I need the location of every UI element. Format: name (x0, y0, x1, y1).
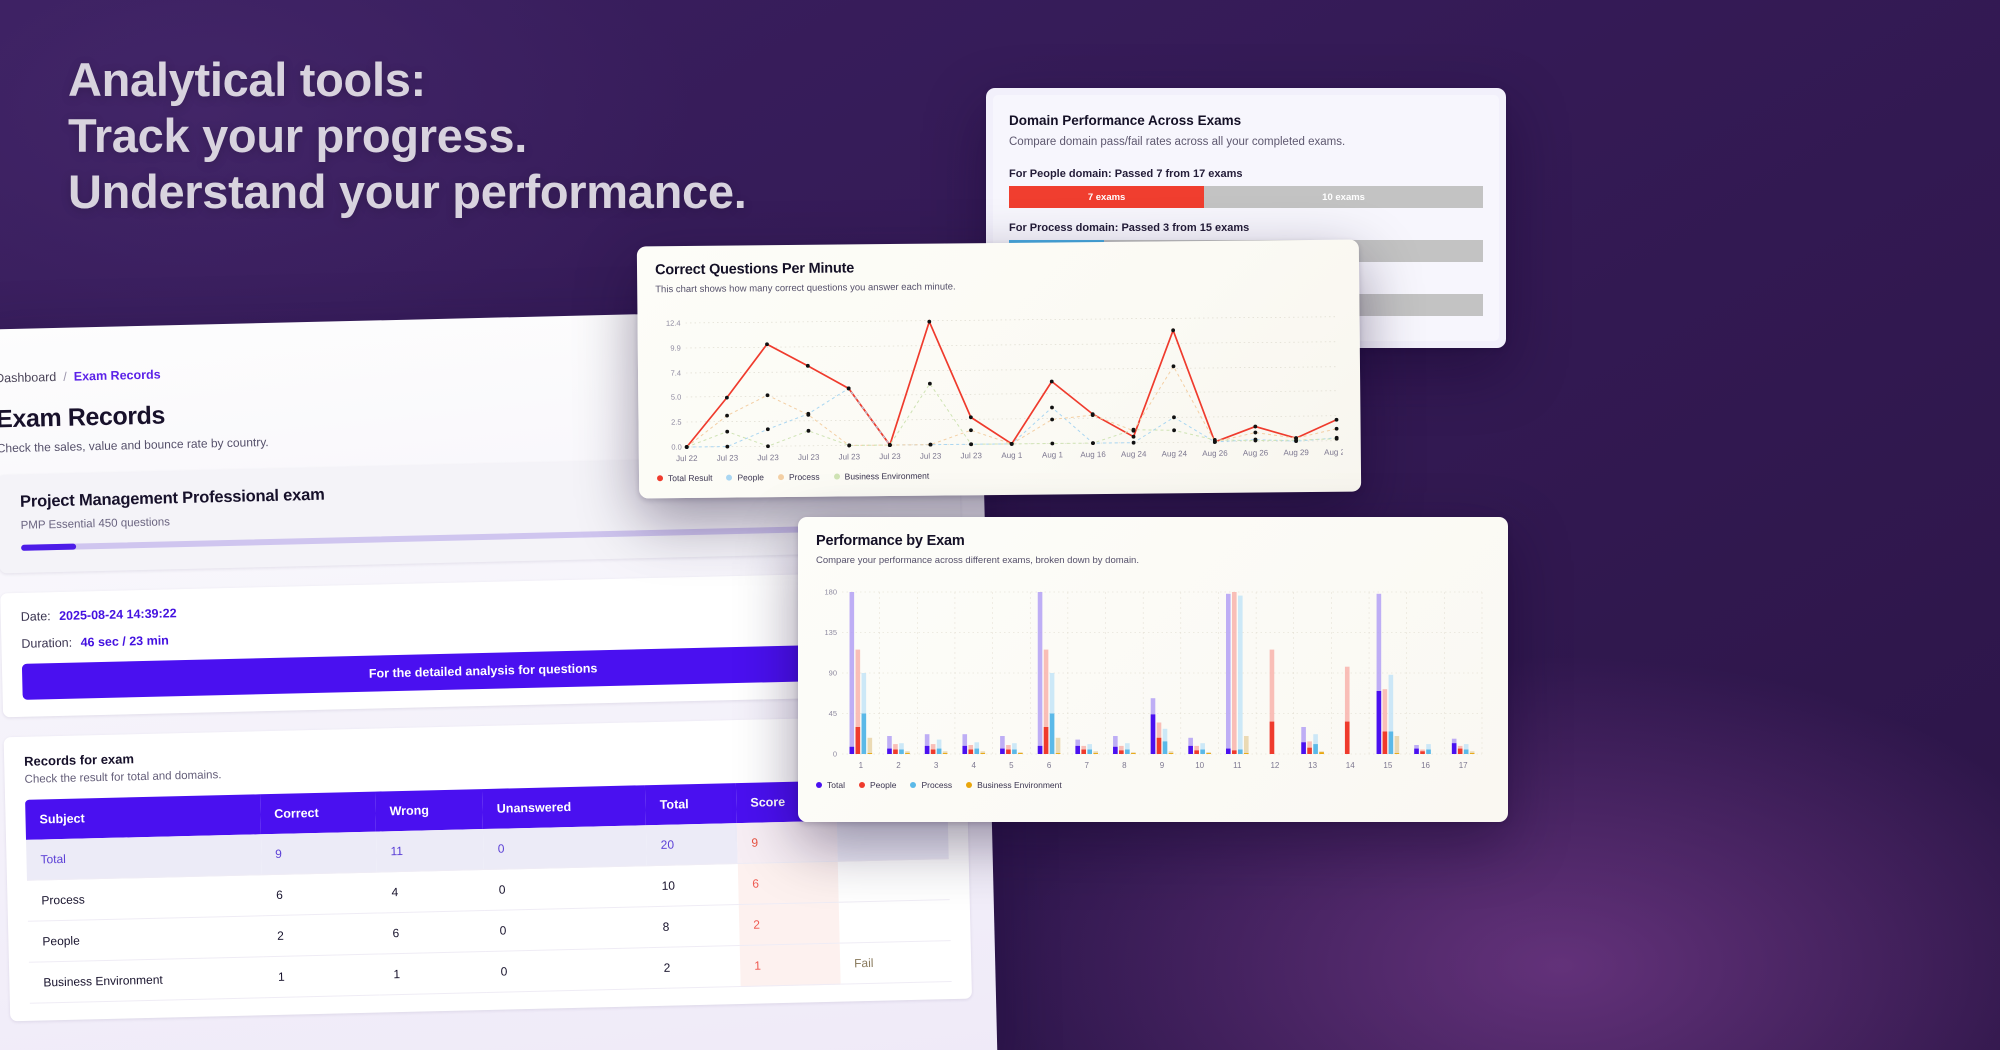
legend-swatch-icon (816, 782, 822, 788)
cell-verdict (839, 900, 951, 944)
svg-text:Jul 23: Jul 23 (920, 452, 942, 461)
cell-subject: People (28, 916, 264, 963)
svg-text:9: 9 (1160, 761, 1165, 770)
svg-text:Aug 26: Aug 26 (1243, 448, 1269, 457)
legend-label: Business Environment (845, 471, 930, 482)
legend-swatch-icon (657, 475, 663, 481)
svg-text:12.4: 12.4 (666, 319, 681, 328)
svg-text:Aug 29: Aug 29 (1283, 448, 1309, 457)
domain-card-subtitle: Compare domain pass/fail rates across al… (1009, 136, 1483, 148)
legend-swatch-icon (910, 782, 916, 788)
records-col-subject: Subject (25, 794, 261, 840)
legend-item[interactable]: Process (778, 472, 820, 482)
svg-text:Aug 16: Aug 16 (1080, 450, 1106, 459)
cqpm-line-chart: 12.49.97.45.02.50.0Jul 22Jul 23Jul 23Jul… (655, 311, 1342, 468)
exam-duration-label: Duration: (21, 636, 72, 651)
svg-text:Jul 23: Jul 23 (839, 452, 861, 461)
perf-bar-chart: 180135904501234567891011121314151617 (816, 584, 1490, 774)
cell-total: 10 (647, 864, 739, 907)
svg-text:11: 11 (1233, 761, 1242, 770)
svg-text:9.9: 9.9 (670, 344, 681, 353)
domain-remaining-segment: 10 exams (1204, 186, 1483, 208)
records-col-wrong: Wrong (375, 789, 483, 832)
cell-unanswered: 0 (483, 825, 647, 869)
cell-wrong: 4 (377, 870, 485, 914)
hero-line-3: Understand your performance. (68, 164, 746, 220)
svg-text:3: 3 (934, 761, 939, 770)
svg-text:2: 2 (896, 761, 901, 770)
hero-headline: Analytical tools: Track your progress. U… (68, 52, 746, 220)
cell-wrong: 1 (379, 952, 487, 996)
records-col-unanswered: Unanswered (482, 785, 646, 829)
svg-text:Jul 23: Jul 23 (757, 453, 779, 462)
svg-text:Jul 23: Jul 23 (717, 454, 739, 463)
legend-label: Business Environment (977, 780, 1062, 790)
svg-text:16: 16 (1421, 761, 1430, 770)
legend-swatch-icon (778, 474, 784, 480)
cqpm-title: Correct Questions Per Minute (655, 256, 1341, 279)
svg-text:45: 45 (829, 709, 837, 718)
cqpm-subtitle: This chart shows how many correct questi… (655, 278, 1341, 296)
svg-text:2.5: 2.5 (671, 418, 682, 427)
exam-progress-fill (21, 544, 76, 551)
legend-item[interactable]: Business Environment (834, 471, 930, 482)
svg-text:135: 135 (824, 628, 837, 637)
cqpm-legend: Total ResultPeopleProcessBusiness Enviro… (657, 467, 1343, 484)
legend-label: Total (827, 780, 845, 790)
svg-text:90: 90 (829, 669, 837, 678)
cell-subject: Process (27, 875, 263, 922)
hero-line-1: Analytical tools: (68, 52, 746, 108)
cell-unanswered: 0 (484, 866, 648, 911)
breadcrumb-separator: / (63, 370, 67, 384)
perf-subtitle: Compare your performance across differen… (816, 555, 1490, 566)
svg-text:7: 7 (1084, 761, 1089, 770)
legend-label: Process (789, 472, 820, 482)
perf-title: Performance by Exam (816, 533, 1490, 549)
cell-correct: 2 (263, 913, 379, 957)
legend-item[interactable]: Total (816, 780, 845, 790)
exam-date-label: Date: (21, 609, 51, 624)
exam-duration-value: 46 sec / 23 min (80, 633, 169, 649)
svg-text:Jul 23: Jul 23 (879, 452, 901, 461)
svg-text:Aug 29: Aug 29 (1324, 448, 1343, 457)
breadcrumb-exam-records[interactable]: Exam Records (74, 368, 161, 384)
cell-unanswered: 0 (486, 948, 650, 993)
breadcrumb-dashboard[interactable]: Dashboard (0, 370, 56, 385)
cell-score: 2 (739, 902, 840, 945)
svg-text:180: 180 (824, 588, 837, 597)
legend-swatch-icon (859, 782, 865, 788)
svg-text:7.4: 7.4 (671, 369, 682, 378)
cell-verdict (838, 859, 950, 903)
svg-text:14: 14 (1346, 761, 1355, 770)
domain-row-label: For Process domain: Passed 3 from 15 exa… (1009, 222, 1483, 234)
cell-score: 9 (737, 821, 838, 864)
correct-questions-per-minute-card: Correct Questions Per Minute This chart … (637, 240, 1361, 499)
cell-subject: Total (26, 834, 262, 880)
svg-text:15: 15 (1383, 761, 1392, 770)
svg-text:Aug 1: Aug 1 (1042, 450, 1064, 459)
cell-total: 8 (648, 905, 740, 948)
records-table-body: Total9110209Process640106People26082Busi… (26, 818, 952, 1003)
records-col-correct: Correct (260, 792, 376, 835)
cell-correct: 1 (264, 954, 380, 998)
cell-score: 6 (738, 861, 839, 904)
exam-date-value: 2025-08-24 14:39:22 (59, 606, 177, 623)
svg-text:0.0: 0.0 (671, 443, 682, 452)
svg-text:4: 4 (972, 761, 977, 770)
svg-text:0: 0 (833, 750, 837, 759)
svg-text:8: 8 (1122, 761, 1127, 770)
legend-label: People (737, 472, 764, 482)
cell-wrong: 11 (376, 829, 484, 872)
records-col-total: Total (645, 783, 737, 825)
domain-pass-fail-bar[interactable]: 7 exams10 exams (1009, 186, 1483, 208)
cell-correct: 6 (262, 872, 378, 916)
svg-text:17: 17 (1459, 761, 1468, 770)
legend-swatch-icon (834, 474, 840, 480)
legend-label: Process (921, 780, 952, 790)
performance-by-exam-card: Performance by Exam Compare your perform… (798, 517, 1508, 822)
legend-label: Total Result (668, 473, 713, 483)
legend-swatch-icon (966, 782, 972, 788)
cell-score: 1 (740, 943, 841, 986)
svg-text:Jul 23: Jul 23 (798, 453, 820, 462)
svg-text:Jul 22: Jul 22 (676, 454, 698, 463)
legend-item[interactable]: Process (910, 780, 952, 790)
svg-text:Aug 1: Aug 1 (1001, 451, 1023, 460)
legend-swatch-icon (726, 475, 732, 481)
cell-wrong: 6 (378, 911, 486, 955)
svg-text:5.0: 5.0 (671, 393, 682, 402)
cell-verdict (837, 818, 949, 861)
cell-total: 2 (649, 946, 741, 989)
cell-subject: Business Environment (29, 957, 265, 1004)
hero-line-2: Track your progress. (68, 108, 746, 164)
legend-label: People (870, 780, 896, 790)
svg-text:12: 12 (1270, 761, 1279, 770)
legend-item[interactable]: Total Result (657, 473, 713, 484)
cell-correct: 9 (261, 832, 377, 875)
cell-total: 20 (646, 823, 738, 866)
legend-item[interactable]: People (726, 472, 764, 482)
domain-row-1: For People domain: Passed 7 from 17 exam… (1009, 168, 1483, 208)
legend-item[interactable]: Business Environment (966, 780, 1062, 790)
svg-text:Aug 24: Aug 24 (1162, 449, 1188, 458)
domain-card-title: Domain Performance Across Exams (1009, 113, 1483, 128)
svg-text:Aug 26: Aug 26 (1202, 449, 1228, 458)
cell-verdict: Fail (840, 941, 952, 985)
svg-text:1: 1 (859, 761, 864, 770)
svg-text:Aug 24: Aug 24 (1121, 450, 1147, 459)
svg-text:10: 10 (1195, 761, 1204, 770)
legend-item[interactable]: People (859, 780, 896, 790)
svg-text:5: 5 (1009, 761, 1014, 770)
domain-passed-segment: 7 exams (1009, 186, 1204, 208)
svg-text:Jul 23: Jul 23 (960, 451, 982, 460)
svg-text:6: 6 (1047, 761, 1052, 770)
perf-legend: TotalPeopleProcessBusiness Environment (816, 780, 1490, 790)
cell-unanswered: 0 (485, 907, 649, 952)
svg-text:13: 13 (1308, 761, 1317, 770)
domain-row-label: For People domain: Passed 7 from 17 exam… (1009, 168, 1483, 180)
